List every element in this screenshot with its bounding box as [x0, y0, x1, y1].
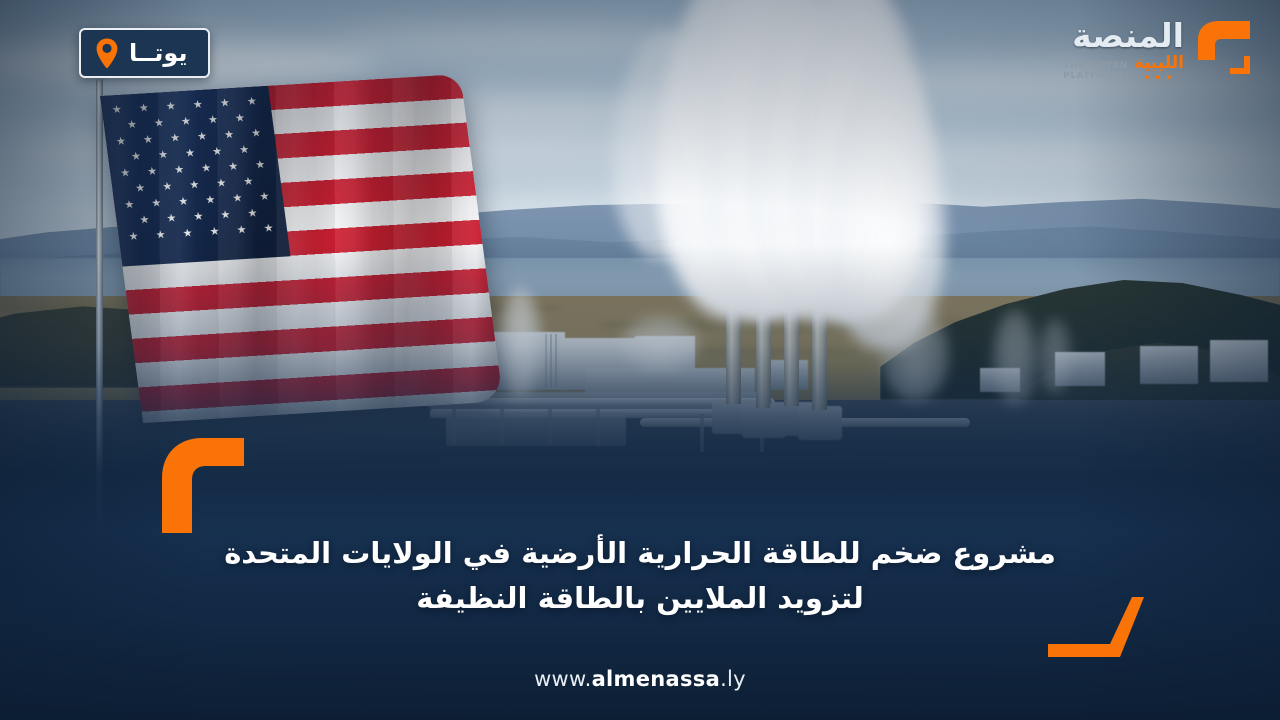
logo-wordmark: المنصة THE LIBYAN PLATFORM الليبية ▪ ▪ ▪	[1063, 19, 1184, 81]
overlay-ui: يوتــا المنصة THE LIBYAN PLATFORM الليبي…	[0, 0, 1280, 720]
location-badge[interactable]: يوتــا	[79, 28, 210, 78]
logo-english-line2: PLATFORM	[1063, 71, 1122, 81]
location-label: يوتــا	[129, 41, 188, 65]
logo-english: THE LIBYAN PLATFORM	[1063, 61, 1128, 81]
logo-dots: ▪ ▪ ▪	[1145, 74, 1174, 81]
url-prefix: www.	[534, 667, 591, 691]
logo-arabic-primary: المنصة	[1072, 19, 1184, 52]
url-suffix: .ly	[720, 667, 746, 691]
page-title: مشروع ضخم للطاقة الحرارية الأرضية في الو…	[0, 531, 1280, 619]
headline-line-1: مشروع ضخم للطاقة الحرارية الأرضية في الو…	[341, 536, 1056, 570]
orange-bracket-shape	[158, 438, 244, 533]
site-logo[interactable]: المنصة THE LIBYAN PLATFORM الليبية ▪ ▪ ▪	[1063, 18, 1258, 82]
almenassa-swoosh-icon	[1192, 18, 1258, 82]
logo-subline: THE LIBYAN PLATFORM الليبية ▪ ▪ ▪	[1063, 55, 1184, 81]
logo-arabic-secondary: الليبية	[1134, 55, 1184, 72]
logo-english-line1: THE LIBYAN	[1063, 61, 1128, 71]
news-card: ★★ ★★ ★★ ★★ ★★ ★ ★★ ★★ ★★ ★★ ★★ ★ ★★ ★★ …	[0, 0, 1280, 720]
site-url[interactable]: www.almenassa.ly	[0, 667, 1280, 691]
map-pin-icon	[94, 37, 120, 69]
url-brand: almenassa	[592, 667, 721, 691]
